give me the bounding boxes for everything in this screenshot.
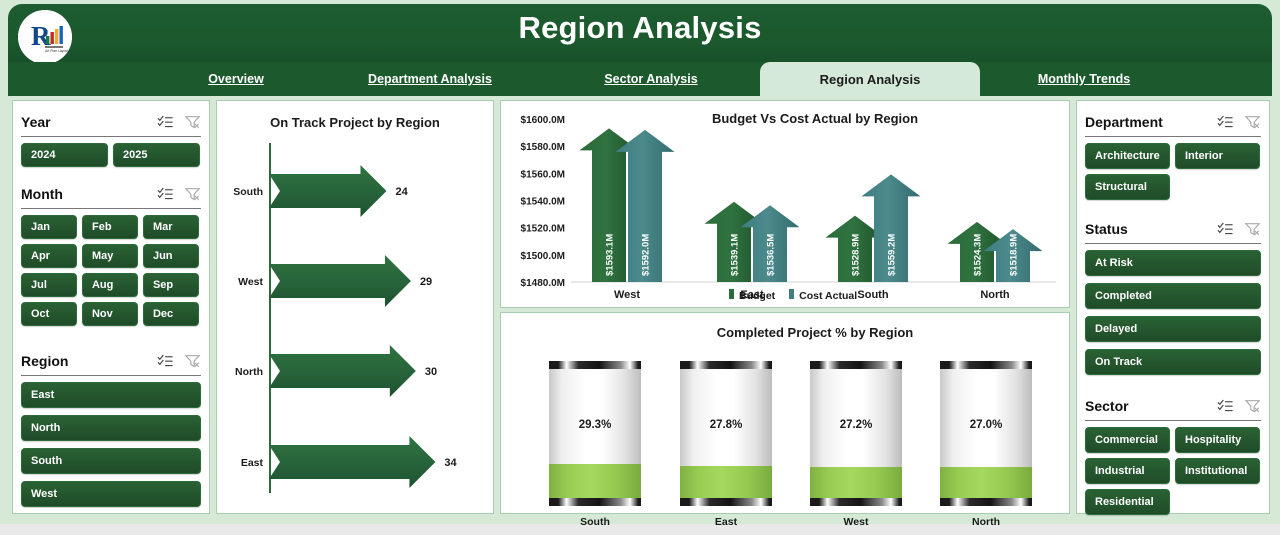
- chip-month-dec[interactable]: Dec: [143, 302, 199, 326]
- svg-text:South: South: [857, 289, 888, 301]
- clear-filter-icon[interactable]: [184, 187, 201, 202]
- svg-text:34: 34: [444, 457, 457, 469]
- chip-region-south[interactable]: South: [21, 448, 201, 474]
- chip-month-jan[interactable]: Jan: [21, 215, 77, 239]
- chip-sector-industrial[interactable]: Industrial: [1085, 458, 1170, 484]
- chip-month-jun[interactable]: Jun: [143, 244, 199, 268]
- chip-year-2024[interactable]: 2024: [21, 143, 108, 167]
- slicer-region-options: East North South West: [13, 382, 209, 507]
- gauge-cap-top: [680, 361, 772, 369]
- gauge-cap-top: [549, 361, 641, 369]
- multi-select-icon[interactable]: [1217, 115, 1234, 130]
- chip-status-delayed[interactable]: Delayed: [1085, 316, 1261, 342]
- slicer-sector-label: Sector: [1085, 398, 1129, 414]
- svg-text:30: 30: [425, 366, 437, 378]
- chip-status-on-track[interactable]: On Track: [1085, 349, 1261, 375]
- chart1-plot: South24West29North30East34: [217, 101, 495, 515]
- tab-sector-analysis[interactable]: Sector Analysis: [545, 62, 757, 96]
- gauge-cap-top: [810, 361, 902, 369]
- chart-completed-pct: Completed Project % by Region 29.3%South…: [500, 312, 1070, 514]
- svg-text:South: South: [233, 186, 263, 198]
- chip-region-west[interactable]: West: [21, 481, 201, 507]
- svg-text:$1540.0M: $1540.0M: [521, 197, 565, 208]
- slicer-department-label: Department: [1085, 114, 1163, 130]
- chip-department-architecture[interactable]: Architecture: [1085, 143, 1170, 169]
- tab-bar: Overview Department Analysis Sector Anal…: [8, 62, 1272, 96]
- gauge-cylinder-north: [940, 361, 1032, 506]
- gauge-cylinder-south: [549, 361, 641, 506]
- slicer-sector: Sector: [1077, 393, 1269, 515]
- gauge-category-label: South: [580, 516, 610, 528]
- svg-text:North: North: [980, 289, 1010, 301]
- gauge-cap-bottom: [940, 498, 1032, 506]
- chip-year-2025[interactable]: 2025: [113, 143, 200, 167]
- slicer-month-label: Month: [21, 186, 63, 202]
- slicer-department-options: Architecture Interior Structural: [1077, 143, 1269, 200]
- gauge-value-label: 29.3%: [579, 419, 612, 431]
- legend-budget: Budget: [729, 289, 775, 302]
- chip-sector-institutional[interactable]: Institutional: [1175, 458, 1260, 484]
- right-filter-panel: Department: [1076, 100, 1270, 514]
- svg-text:East: East: [241, 457, 264, 469]
- chip-sector-residential[interactable]: Residential: [1085, 489, 1170, 515]
- gauge-category-label: West: [844, 516, 869, 528]
- slicer-month-options: Jan Feb Mar Apr May Jun Jul Aug Sep Oct …: [13, 215, 209, 326]
- multi-select-icon[interactable]: [157, 187, 174, 202]
- chart-budget-vs-cost: Budget Vs Cost Actual by Region $1480.0M…: [500, 100, 1070, 308]
- gauge-cylinder-east: [680, 361, 772, 506]
- svg-text:$1592.0M: $1592.0M: [641, 234, 652, 276]
- svg-text:$1559.2M: $1559.2M: [887, 234, 898, 276]
- slicer-year-options: 2024 2025: [13, 143, 209, 167]
- chip-month-sep[interactable]: Sep: [143, 273, 199, 297]
- svg-text:$1520.0M: $1520.0M: [521, 224, 565, 235]
- tab-department-analysis[interactable]: Department Analysis: [324, 62, 536, 96]
- svg-text:$1528.9M: $1528.9M: [851, 234, 862, 276]
- chip-status-completed[interactable]: Completed: [1085, 283, 1261, 309]
- svg-text:West: West: [614, 289, 640, 301]
- slicer-year-label: Year: [21, 114, 51, 130]
- chip-status-at-risk[interactable]: At Risk: [1085, 250, 1261, 276]
- clear-filter-icon[interactable]: [1244, 222, 1261, 237]
- svg-text:$1536.5M: $1536.5M: [766, 234, 777, 276]
- dashboard-root: R Art Plan Layout Region Analysis Overvi…: [0, 0, 1280, 524]
- multi-select-icon[interactable]: [1217, 222, 1234, 237]
- svg-text:$1580.0M: $1580.0M: [521, 142, 565, 153]
- svg-text:North: North: [235, 366, 263, 378]
- chip-month-oct[interactable]: Oct: [21, 302, 77, 326]
- chart2-legend: Budget Cost Actual: [729, 289, 857, 302]
- slicer-status-options: At Risk Completed Delayed On Track: [1077, 250, 1269, 375]
- clear-filter-icon[interactable]: [184, 354, 201, 369]
- multi-select-icon[interactable]: [157, 354, 174, 369]
- chip-region-north[interactable]: North: [21, 415, 201, 441]
- slicer-year: Year: [13, 109, 209, 167]
- chip-month-jul[interactable]: Jul: [21, 273, 77, 297]
- clear-filter-icon[interactable]: [184, 115, 201, 130]
- gauge-value-label: 27.2%: [840, 419, 873, 431]
- gauge-value-label: 27.0%: [970, 419, 1003, 431]
- chip-department-interior[interactable]: Interior: [1175, 143, 1260, 169]
- svg-text:Art Plan Layout: Art Plan Layout: [45, 49, 68, 53]
- svg-text:$1600.0M: $1600.0M: [521, 115, 565, 126]
- slicer-region: Region: [13, 348, 209, 507]
- gauge-cap-top: [940, 361, 1032, 369]
- chip-region-east[interactable]: East: [21, 382, 201, 408]
- svg-text:29: 29: [420, 276, 432, 288]
- slicer-status: Status: [1077, 216, 1269, 375]
- multi-select-icon[interactable]: [157, 115, 174, 130]
- gauge-cap-bottom: [680, 498, 772, 506]
- chip-month-mar[interactable]: Mar: [143, 215, 199, 239]
- legend-cost-actual: Cost Actual: [789, 289, 857, 302]
- left-filter-panel: Year: [12, 100, 210, 514]
- chip-department-structural[interactable]: Structural: [1085, 174, 1170, 200]
- svg-text:$1560.0M: $1560.0M: [521, 169, 565, 180]
- tab-region-analysis[interactable]: Region Analysis: [760, 62, 980, 96]
- chip-sector-hospitality[interactable]: Hospitality: [1175, 427, 1260, 453]
- svg-text:$1539.1M: $1539.1M: [730, 234, 741, 276]
- tab-overview[interactable]: Overview: [148, 62, 324, 96]
- svg-text:$1500.0M: $1500.0M: [521, 251, 565, 262]
- gauge-category-label: East: [715, 516, 737, 528]
- chip-month-may[interactable]: May: [82, 244, 138, 268]
- gauge-value-label: 27.8%: [710, 419, 743, 431]
- chip-month-apr[interactable]: Apr: [21, 244, 77, 268]
- svg-text:$1518.9M: $1518.9M: [1009, 234, 1020, 276]
- page-title: Region Analysis: [8, 10, 1272, 46]
- chart-on-track-by-region: On Track Project by Region South24West29…: [216, 100, 494, 514]
- svg-text:24: 24: [395, 186, 408, 198]
- dashboard-header: R Art Plan Layout Region Analysis: [8, 4, 1272, 66]
- multi-select-icon[interactable]: [1217, 399, 1234, 414]
- chart2-plot: $1480.0M$1500.0M$1520.0M$1540.0M$1560.0M…: [501, 101, 1071, 309]
- chip-sector-commercial[interactable]: Commercial: [1085, 427, 1170, 453]
- gauge-cap-bottom: [810, 498, 902, 506]
- clear-filter-icon[interactable]: [1244, 115, 1261, 130]
- slicer-region-label: Region: [21, 353, 68, 369]
- clear-filter-icon[interactable]: [1244, 399, 1261, 414]
- chip-month-nov[interactable]: Nov: [82, 302, 138, 326]
- gauge-category-label: North: [972, 516, 1000, 528]
- chip-month-aug[interactable]: Aug: [82, 273, 138, 297]
- svg-text:West: West: [238, 276, 263, 288]
- slicer-department: Department: [1077, 109, 1269, 200]
- slicer-month: Month: [13, 181, 209, 326]
- chart3-title: Completed Project % by Region: [561, 325, 1069, 340]
- gauge-cylinder-west: [810, 361, 902, 506]
- gauge-cap-bottom: [549, 498, 641, 506]
- chip-month-feb[interactable]: Feb: [82, 215, 138, 239]
- svg-text:$1524.3M: $1524.3M: [973, 234, 984, 276]
- tab-monthly-trends[interactable]: Monthly Trends: [983, 62, 1185, 96]
- svg-text:$1480.0M: $1480.0M: [521, 278, 565, 289]
- svg-text:$1593.1M: $1593.1M: [605, 234, 616, 276]
- slicer-status-label: Status: [1085, 221, 1128, 237]
- slicer-sector-options: Commercial Hospitality Industrial Instit…: [1077, 427, 1269, 515]
